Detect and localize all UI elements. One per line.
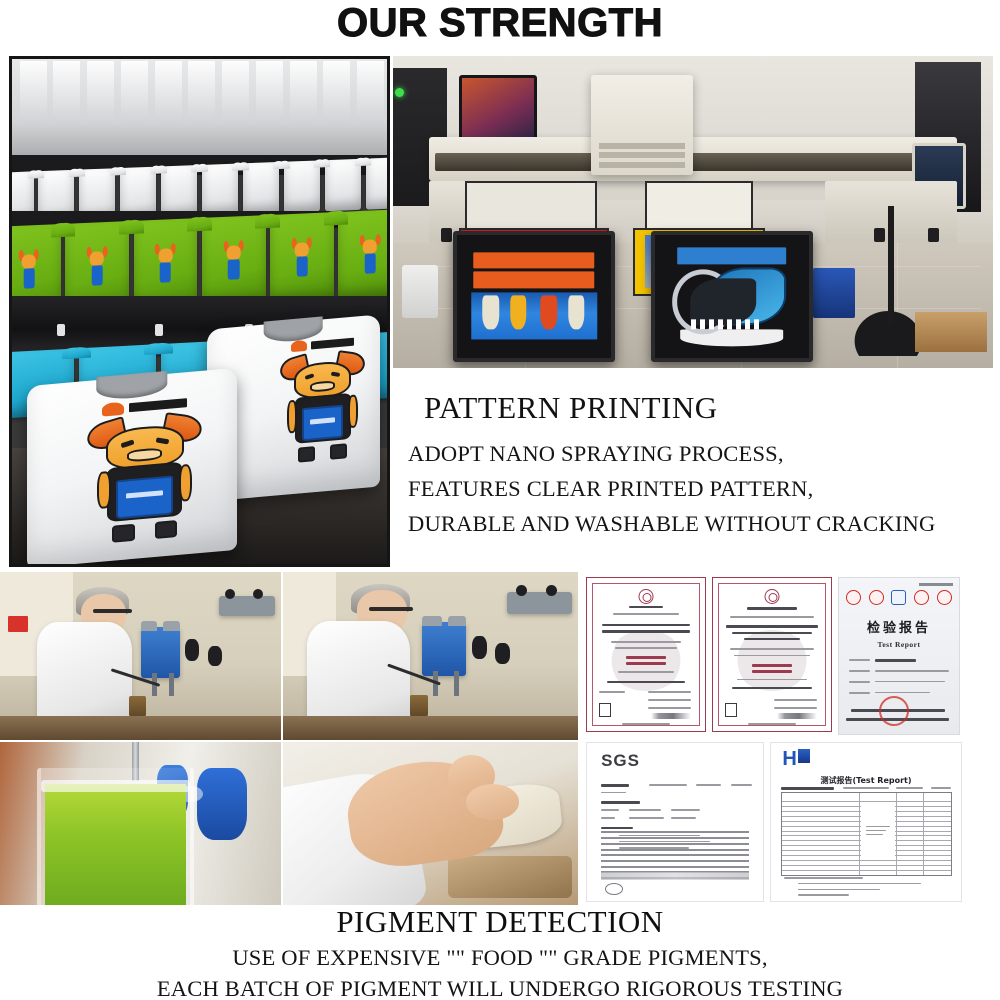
pigment-line-2: EACH BATCH OF PIGMENT WILL UNDERGO RIGOR… (0, 973, 1000, 1000)
iso-certificate-english (712, 577, 832, 732)
green-pigment-liquid (45, 784, 186, 905)
black-shirt-junior-company (453, 231, 615, 362)
pattern-printing-section: PATTERN PRINTING ADOPT NANO SPRAYING PRO… (400, 388, 1000, 541)
lab-mixer (141, 627, 180, 677)
photo-hands-sample (283, 742, 578, 905)
printed-shirt-front (27, 368, 237, 567)
pattern-line-3: DURABLE AND WASHABLE WITHOUT CRACKING (400, 506, 1000, 541)
h-report-footnotes (781, 877, 952, 896)
h-brand-logo-icon: H (782, 749, 809, 769)
pattern-line-2: FEATURES CLEAR PRINTED PATTERN, (400, 471, 1000, 506)
ccc-logo-icon (846, 590, 861, 605)
pigment-detection-body: USE OF EXPENSIVE "" FOOD "" GRADE PIGMEN… (0, 942, 1000, 1000)
photo-lab-technician-right (283, 572, 578, 740)
black-shirt-sharks (651, 231, 813, 362)
bull-mascot-print (82, 392, 208, 538)
pattern-printing-heading: PATTERN PRINTING (400, 388, 1000, 428)
photo-dtg-flatbed-printer (393, 56, 993, 368)
test-report-document: 检验报告 Test Report (838, 577, 960, 735)
iso-certificate-chinese (586, 577, 706, 732)
sgs-test-report: SGS (586, 742, 764, 902)
sgs-logo-icon: SGS (601, 751, 640, 771)
photo-green-pigment-beaker (0, 742, 281, 905)
glass-beaker (37, 768, 194, 905)
pattern-line-1: ADOPT NANO SPRAYING PROCESS, (400, 436, 1000, 471)
certification-logo-row (846, 590, 952, 605)
photo-tshirt-production-line (9, 56, 390, 567)
factory-wall (12, 59, 387, 165)
pigment-line-1: USE OF EXPENSIVE "" FOOD "" GRADE PIGMEN… (0, 942, 1000, 973)
test-report-title-cn: 检验报告 (839, 617, 959, 636)
printer-monitor (459, 75, 537, 144)
poster-root: OUR STRENGTH (0, 0, 1000, 1000)
print-head-carriage (591, 75, 693, 175)
iso-logo-icon (891, 590, 906, 605)
photo-lab-technician-left (0, 572, 281, 740)
page-title: OUR STRENGTH (0, 0, 1000, 46)
printer-gantry-rail (435, 153, 951, 172)
pigment-detection-section: PIGMENT DETECTION USE OF EXPENSIVE "" FO… (0, 902, 1000, 1000)
h-results-table (781, 792, 952, 876)
lab-mixer (422, 622, 466, 676)
h-report-title: 测试报告(Test Report) (771, 775, 961, 786)
pigment-detection-heading: PIGMENT DETECTION (0, 902, 1000, 942)
pattern-printing-body: ADOPT NANO SPRAYING PROCESS, FEATURES CL… (400, 436, 1000, 541)
cardboard-box (915, 312, 987, 353)
bull-mascot-print (276, 332, 369, 457)
cma-logo-icon (914, 590, 929, 605)
test-report-title-en: Test Report (839, 640, 959, 649)
red-seal-stamp (879, 696, 909, 726)
cnas-logo-icon (937, 590, 952, 605)
cqc-logo-icon (869, 590, 884, 605)
h-test-report: H 测试报告(Test Report) (770, 742, 962, 902)
